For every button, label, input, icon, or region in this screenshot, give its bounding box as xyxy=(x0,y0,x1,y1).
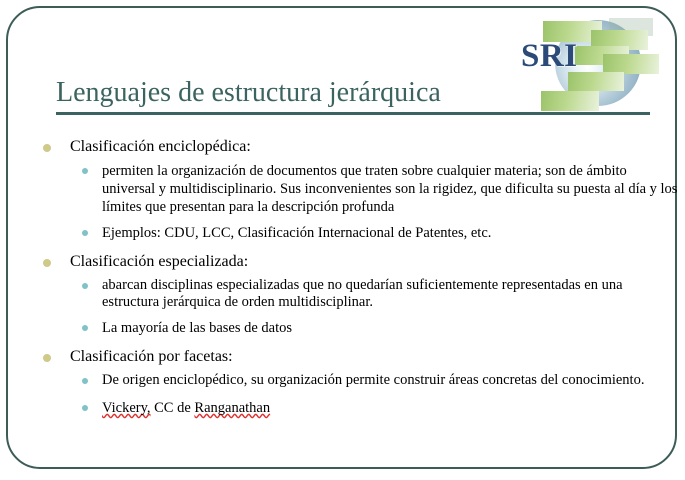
bullet-dot-level2-icon xyxy=(82,405,88,411)
bullet-level1: Clasificación enciclopédica: xyxy=(32,136,682,158)
bullet-level2-text: abarcan disciplinas especializadas que n… xyxy=(102,277,623,310)
bullet-level2-text: permiten la organización de documentos q… xyxy=(102,163,677,215)
bullet-level2: Ejemplos: CDU, LCC, Clasificación Intern… xyxy=(32,224,682,242)
bullet-level2-misspelled-line: Vickery, CC de Ranganathan xyxy=(102,400,270,416)
misspelled-word-ranganathan: Ranganathan xyxy=(194,400,270,416)
slide-frame: SRI Lenguajes de estructura jerárquica C… xyxy=(6,6,677,469)
bullet-dot-level2-icon xyxy=(82,168,88,174)
bullet-level2: abarcan disciplinas especializadas que n… xyxy=(32,277,682,311)
plain-text-segment: CC de xyxy=(151,400,195,416)
bullet-level2: permiten la organización de documentos q… xyxy=(32,162,682,216)
bullet-level2: Vickery, CC de Ranganathan xyxy=(32,399,682,417)
title-block: Lenguajes de estructura jerárquica xyxy=(56,76,650,115)
bullet-level2-text: De origen enciclopédico, su organización… xyxy=(102,372,644,388)
bullet-dot-level2-icon xyxy=(82,325,88,331)
bullet-group: Clasificación especializada: abarcan dis… xyxy=(32,251,682,337)
logo-wordmark: SRI xyxy=(521,38,578,75)
bullet-level1: Clasificación especializada: xyxy=(32,251,682,273)
bullet-level1-text: Clasificación especializada: xyxy=(70,253,248,270)
bullet-dot-level1-icon xyxy=(43,144,51,152)
bullet-dot-level2-icon xyxy=(82,283,88,289)
page-title: Lenguajes de estructura jerárquica xyxy=(56,76,650,110)
bullet-level1-text: Clasificación por facetas: xyxy=(70,348,233,365)
bullet-level2: La mayoría de las bases de datos xyxy=(32,319,682,337)
bullet-group: Clasificación enciclopédica: permiten la… xyxy=(32,136,682,242)
bullet-dot-level1-icon xyxy=(43,354,51,362)
title-underline-rule xyxy=(56,112,650,115)
bullet-level2-text: La mayoría de las bases de datos xyxy=(102,320,292,336)
bullet-dot-level1-icon xyxy=(43,259,51,267)
bullet-level2: De origen enciclopédico, su organización… xyxy=(32,372,682,389)
bullet-dot-level2-icon xyxy=(82,230,88,236)
bullet-group: Clasificación por facetas: De origen enc… xyxy=(32,346,682,417)
slide-content: Clasificación enciclopédica: permiten la… xyxy=(32,136,682,417)
bullet-level1-text: Clasificación enciclopédica: xyxy=(70,138,251,155)
logo-green-block-4 xyxy=(603,54,659,74)
bullet-level2-text: Ejemplos: CDU, LCC, Clasificación Intern… xyxy=(102,225,491,241)
misspelled-word-vickery: Vickery, xyxy=(102,400,151,416)
bullet-dot-level2-icon xyxy=(82,378,88,384)
bullet-level1: Clasificación por facetas: xyxy=(32,346,682,368)
